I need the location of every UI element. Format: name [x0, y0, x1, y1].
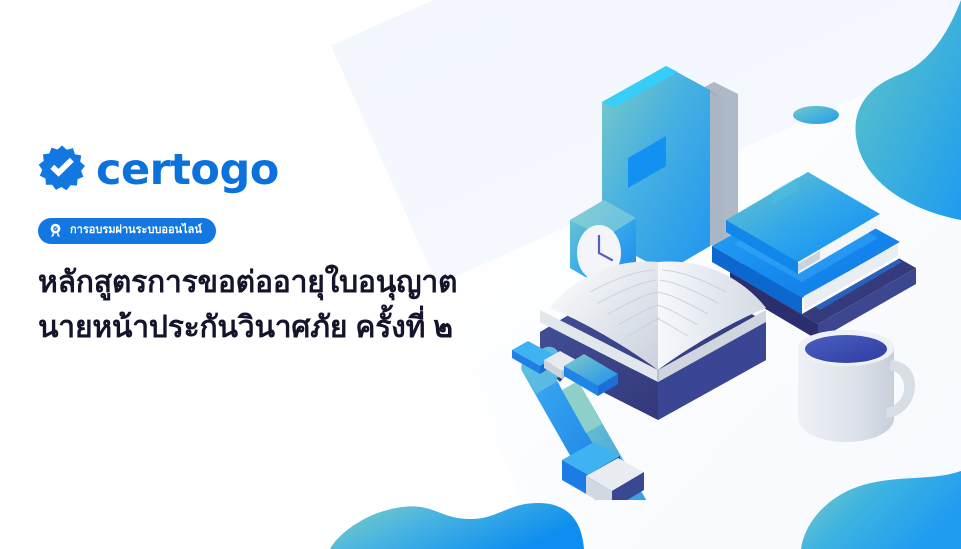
- certified-badge-check-icon: [38, 144, 86, 192]
- status-badge: การอบรมผ่านระบบออนไลน์: [38, 218, 216, 244]
- page-title-line-1: หลักสูตรการขอต่ออายุใบอนุญาต: [38, 260, 498, 305]
- isometric-study-illustration: [498, 60, 961, 500]
- page-title: หลักสูตรการขอต่ออายุใบอนุญาต นายหน้าประก…: [38, 260, 498, 350]
- coffee-mug-icon: [798, 330, 915, 442]
- brand-logo[interactable]: certogo: [38, 140, 498, 196]
- award-rosette-icon: [48, 223, 63, 238]
- status-badge-label: การอบรมผ่านระบบออนไลน์: [70, 225, 202, 236]
- banner-content: certogo การอบรมผ่านระบบออนไลน์ หลักสูตรก…: [38, 140, 498, 370]
- brand-wordmark: certogo: [96, 149, 279, 192]
- course-banner: certogo การอบรมผ่านระบบออนไลน์ หลักสูตรก…: [0, 0, 961, 549]
- page-title-line-2: นายหน้าประกันวินาศภัย ครั้งที่ ๒: [38, 305, 498, 350]
